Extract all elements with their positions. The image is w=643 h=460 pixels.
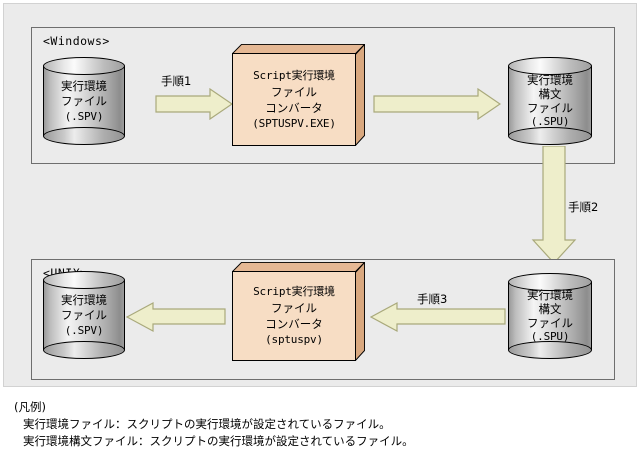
unix-converter-box: Script実行環境 ファイル コンバータ (sptuspv) bbox=[232, 262, 365, 361]
diagram-canvas: <Windows> 実行環境 ファイル (.SPV) 手順1 Script実行環… bbox=[0, 0, 643, 460]
unix-source-cylinder-text: 実行環境 構文 ファイル (.SPU) bbox=[508, 273, 592, 359]
cylinder-line-3: (.SPV) bbox=[65, 323, 104, 338]
cylinder-line-1: 実行環境 bbox=[527, 288, 573, 302]
step-2-arrow-icon bbox=[530, 146, 578, 264]
step-1-arrow-icon bbox=[155, 88, 233, 120]
box-line-3: コンバータ bbox=[265, 100, 323, 116]
windows-converter-box: Script実行環境 ファイル コンバータ (SPTUSPV.EXE) bbox=[232, 44, 365, 146]
cylinder-line-2: 構文 bbox=[539, 302, 562, 316]
cylinder-line-4: (.SPU) bbox=[531, 330, 570, 344]
windows-target-cylinder: 実行環境 構文 ファイル (.SPU) bbox=[508, 57, 592, 145]
unix-converter-box-text: Script実行環境 ファイル コンバータ (sptuspv) bbox=[232, 271, 356, 361]
windows-converter-box-text: Script実行環境 ファイル コンバータ (SPTUSPV.EXE) bbox=[232, 53, 356, 146]
step-3-arrow-icon bbox=[370, 302, 506, 332]
unix-target-cylinder: 実行環境 ファイル (.SPV) bbox=[43, 271, 125, 359]
cylinder-line-3: (.SPV) bbox=[65, 109, 104, 124]
box-line-1: Script実行環境 bbox=[253, 284, 335, 300]
box-right-bevel bbox=[355, 44, 365, 146]
cylinder-line-4: (.SPU) bbox=[531, 115, 570, 129]
windows-source-cylinder: 実行環境 ファイル (.SPV) bbox=[43, 57, 125, 145]
cylinder-line-2: ファイル bbox=[61, 94, 107, 109]
unix-output-arrow-icon bbox=[126, 302, 226, 332]
panel-windows-label: <Windows> bbox=[43, 34, 110, 48]
legend: (凡例) 実行環境ファイル：スクリプトの実行環境が設定されているファイル。 実行… bbox=[14, 399, 414, 450]
cylinder-line-2: ファイル bbox=[61, 308, 107, 323]
box-line-2: ファイル bbox=[271, 84, 317, 100]
legend-title: (凡例) bbox=[14, 399, 414, 416]
windows-target-cylinder-text: 実行環境 構文 ファイル (.SPU) bbox=[508, 57, 592, 145]
cylinder-line-3: ファイル bbox=[527, 101, 573, 115]
cylinder-line-1: 実行環境 bbox=[527, 73, 573, 87]
legend-line-1: 実行環境ファイル：スクリプトの実行環境が設定されているファイル。 bbox=[23, 416, 414, 433]
box-line-4: (SPTUSPV.EXE) bbox=[252, 116, 336, 132]
step-1-label: 手順1 bbox=[161, 73, 191, 89]
box-line-4: (sptuspv) bbox=[265, 332, 323, 348]
cylinder-line-3: ファイル bbox=[527, 316, 573, 330]
unix-target-cylinder-text: 実行環境 ファイル (.SPV) bbox=[43, 271, 125, 359]
cylinder-line-2: 構文 bbox=[539, 87, 562, 101]
box-line-1: Script実行環境 bbox=[253, 68, 335, 84]
unix-source-cylinder: 実行環境 構文 ファイル (.SPU) bbox=[508, 273, 592, 359]
legend-line-2: 実行環境構文ファイル：スクリプトの実行環境が設定されているファイル。 bbox=[23, 433, 414, 450]
cylinder-line-1: 実行環境 bbox=[61, 293, 107, 308]
box-line-2: ファイル bbox=[271, 300, 317, 316]
windows-source-cylinder-text: 実行環境 ファイル (.SPV) bbox=[43, 57, 125, 145]
windows-output-arrow-icon bbox=[373, 88, 501, 120]
cylinder-line-1: 実行環境 bbox=[61, 79, 107, 94]
box-right-bevel bbox=[355, 262, 365, 361]
box-line-3: コンバータ bbox=[265, 316, 323, 332]
